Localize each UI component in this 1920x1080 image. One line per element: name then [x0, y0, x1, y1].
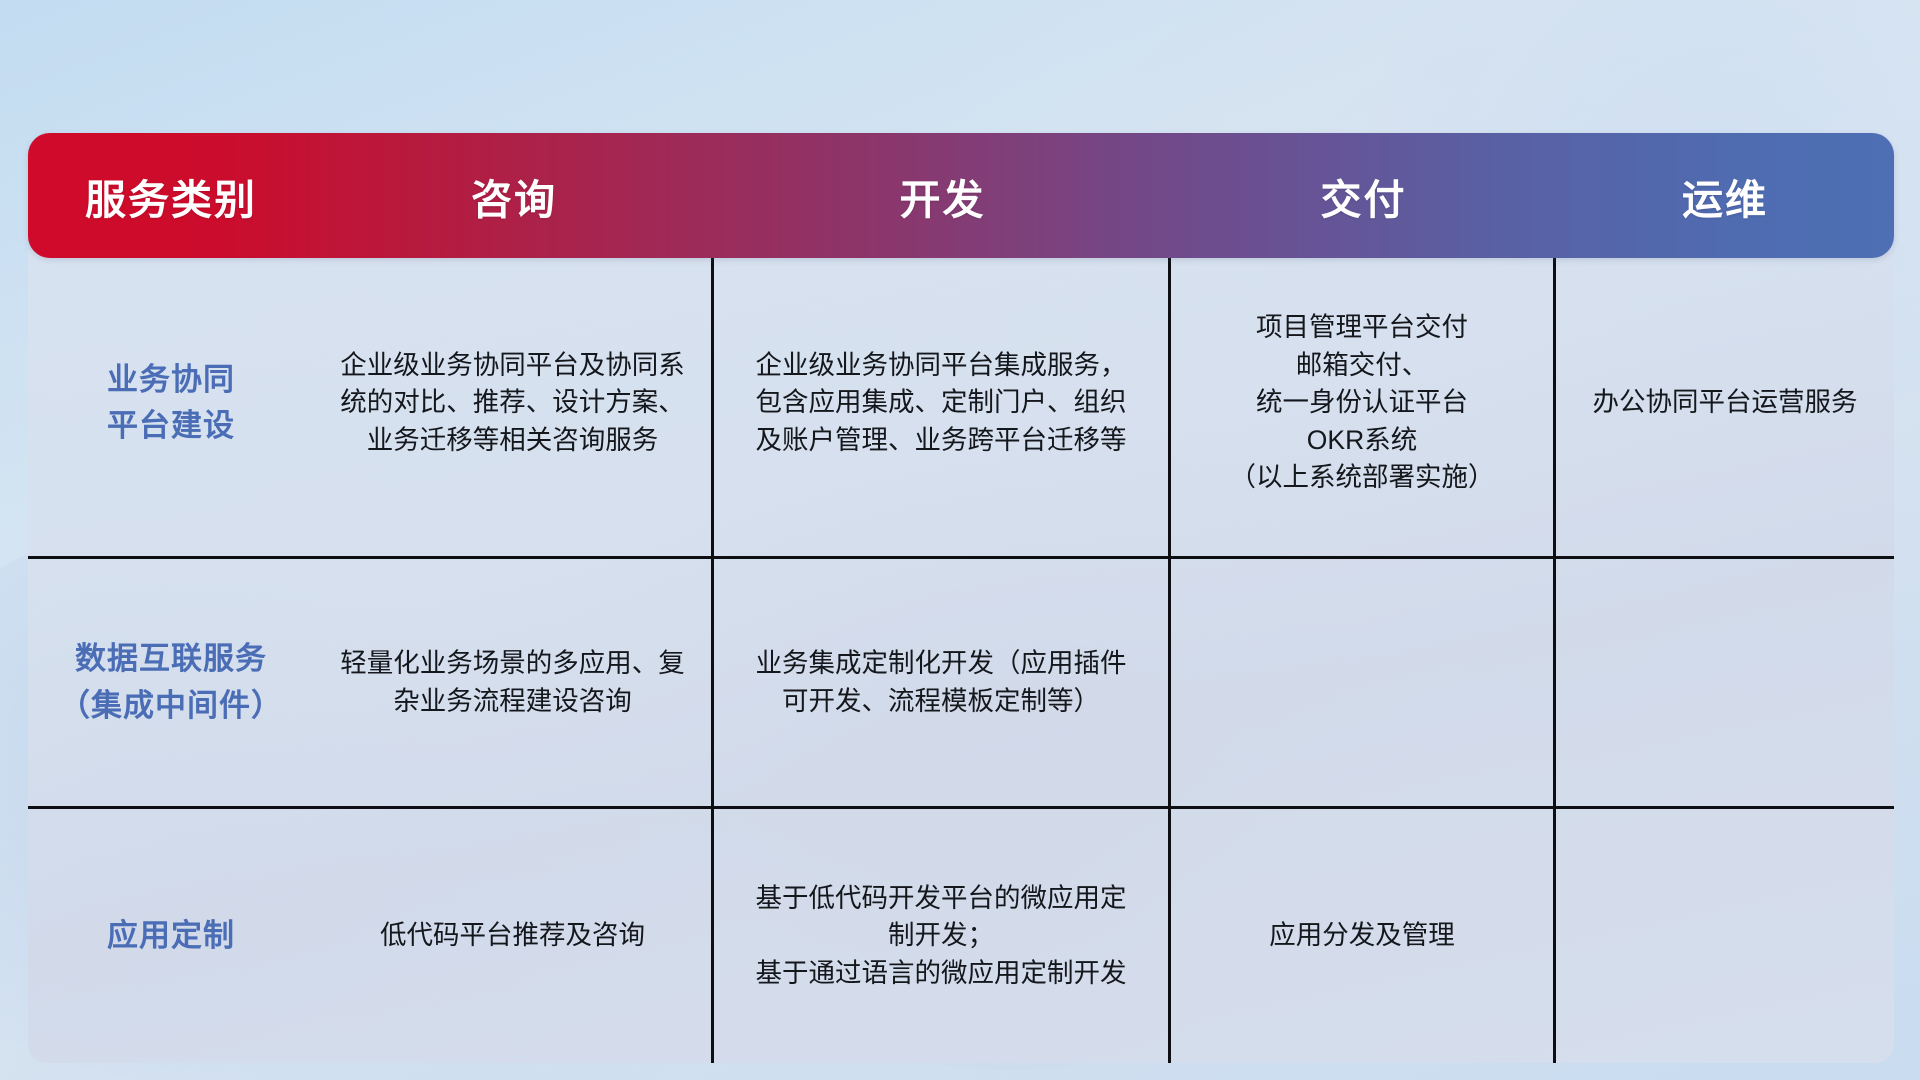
- table-row: 业务协同 平台建设 企业级业务协同平台及协同系 统的对比、推荐、设计方案、 业务…: [28, 250, 1894, 559]
- cell-development: 基于低代码开发平台的微应用定 制开发； 基于通过语言的微应用定制开发: [714, 809, 1171, 1063]
- column-header-operations: 运维: [1556, 166, 1894, 226]
- table-body: 业务协同 平台建设 企业级业务协同平台及协同系 统的对比、推荐、设计方案、 业务…: [28, 250, 1894, 1063]
- table-header-row: 服务类别 咨询 开发 交付 运维: [28, 133, 1894, 258]
- column-header-development: 开发: [714, 166, 1171, 226]
- service-matrix-table: 服务类别 咨询 开发 交付 运维 业务协同 平台建设 企业级业务协同平台及协同系…: [28, 133, 1894, 1063]
- row-category-label: 应用定制: [28, 809, 314, 1063]
- cell-development: 企业级业务协同平台集成服务， 包含应用集成、定制门户、组织 及账户管理、业务跨平…: [714, 250, 1171, 556]
- table-row: 数据互联服务 （集成中间件） 轻量化业务场景的多应用、复 杂业务流程建设咨询 业…: [28, 559, 1894, 809]
- table-row: 应用定制 低代码平台推荐及咨询 基于低代码开发平台的微应用定 制开发； 基于通过…: [28, 809, 1894, 1063]
- cell-development: 业务集成定制化开发（应用插件 可开发、流程模板定制等）: [714, 559, 1171, 806]
- column-header-consulting: 咨询: [314, 166, 714, 226]
- cell-delivery: [1171, 559, 1556, 806]
- cell-consulting: 企业级业务协同平台及协同系 统的对比、推荐、设计方案、 业务迁移等相关咨询服务: [314, 250, 714, 556]
- cell-operations: [1556, 559, 1894, 806]
- cell-consulting: 低代码平台推荐及咨询: [314, 809, 714, 1063]
- cell-operations: 办公协同平台运营服务: [1556, 250, 1894, 556]
- column-header-category: 服务类别: [28, 166, 314, 226]
- cell-delivery: 应用分发及管理: [1171, 809, 1556, 1063]
- row-category-label: 数据互联服务 （集成中间件）: [28, 559, 314, 806]
- row-category-label: 业务协同 平台建设: [28, 250, 314, 556]
- cell-delivery: 项目管理平台交付 邮箱交付、 统一身份认证平台 OKR系统 （以上系统部署实施）: [1171, 250, 1556, 556]
- cell-operations: [1556, 809, 1894, 1063]
- cell-consulting: 轻量化业务场景的多应用、复 杂业务流程建设咨询: [314, 559, 714, 806]
- column-header-delivery: 交付: [1171, 166, 1556, 226]
